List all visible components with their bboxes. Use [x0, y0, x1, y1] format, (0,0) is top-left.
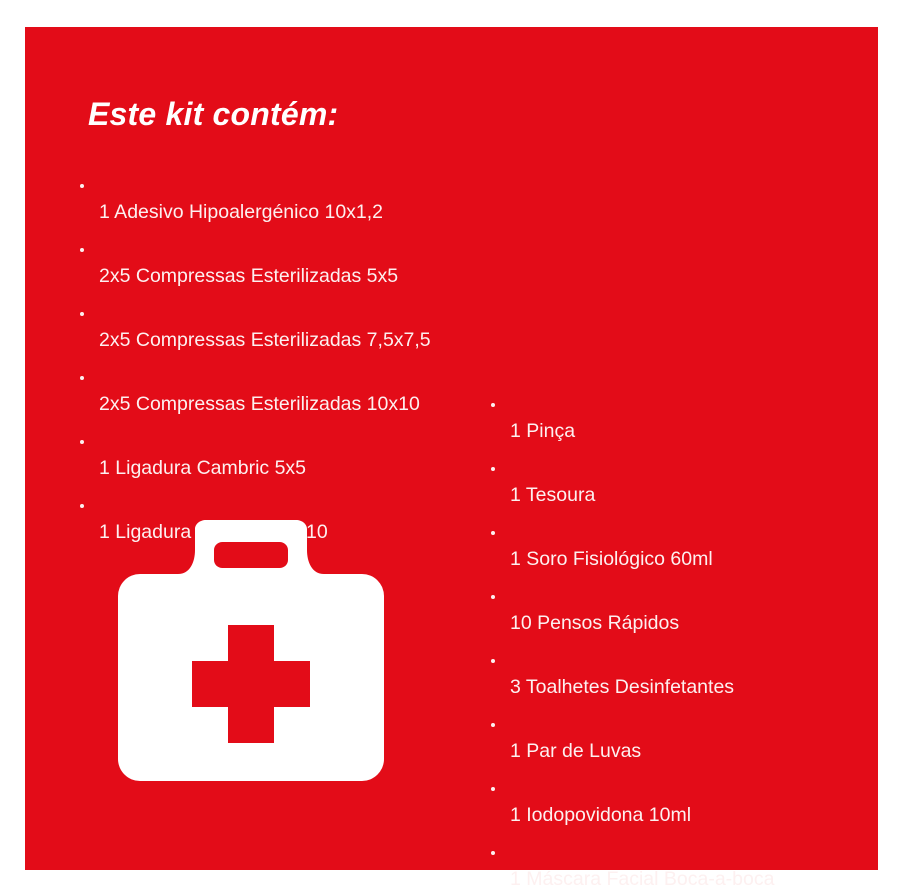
list-item-label: 10 Pensos Rápidos [510, 612, 679, 634]
list-item-label: 2x5 Compressas Esterilizadas 10x10 [99, 393, 420, 415]
list-item: 2x5 Compressas Esterilizadas 10x10 [78, 365, 498, 417]
list-item: 10 Pensos Rápidos [489, 584, 849, 636]
list-item: 1 Tesoura [489, 456, 849, 508]
bullet-icon [491, 467, 495, 471]
list-item-label: 1 Tesoura [510, 484, 595, 506]
list-item: 1 Máscara Facial Boca-a-boca [489, 840, 849, 892]
kit-contents-right-list: 1 Pinça 1 Tesoura 1 Soro Fisiológico 60m… [489, 392, 849, 892]
list-item-label: 1 Máscara Facial Boca-a-boca [510, 868, 774, 890]
bullet-icon [491, 595, 495, 599]
first-aid-kit-icon [110, 520, 392, 790]
bullet-icon [80, 248, 84, 252]
list-item-label: 1 Pinça [510, 420, 575, 442]
list-item-label: 2x5 Compressas Esterilizadas 5x5 [99, 265, 398, 287]
list-item: 1 Ligadura Cambric 5x5 [78, 429, 498, 481]
list-item: 1 Soro Fisiológico 60ml [489, 520, 849, 572]
bullet-icon [80, 440, 84, 444]
list-item-label: 1 Par de Luvas [510, 740, 641, 762]
bullet-icon [491, 403, 495, 407]
page-title: Este kit contém: [88, 96, 338, 133]
list-item-label: 1 Adesivo Hipoalergénico 10x1,2 [99, 201, 383, 223]
list-item-label: 1 Soro Fisiológico 60ml [510, 548, 713, 570]
bullet-icon [80, 312, 84, 316]
bullet-icon [491, 659, 495, 663]
list-item-label: 1 Iodopovidona 10ml [510, 804, 691, 826]
list-item: 1 Adesivo Hipoalergénico 10x1,2 [78, 173, 498, 225]
list-item: 3 Toalhetes Desinfetantes [489, 648, 849, 700]
list-item: 1 Pinça [489, 392, 849, 444]
list-item: 1 Iodopovidona 10ml [489, 776, 849, 828]
bullet-icon [80, 184, 84, 188]
kit-contents-poster: Este kit contém: 1 Adesivo Hipoalergénic… [0, 0, 900, 892]
bullet-icon [491, 787, 495, 791]
list-item-label: 1 Ligadura Cambric 5x5 [99, 457, 306, 479]
list-item-label: 2x5 Compressas Esterilizadas 7,5x7,5 [99, 329, 431, 351]
bullet-icon [491, 723, 495, 727]
list-item: 2x5 Compressas Esterilizadas 5x5 [78, 237, 498, 289]
bullet-icon [491, 531, 495, 535]
bullet-icon [491, 851, 495, 855]
list-item: 1 Par de Luvas [489, 712, 849, 764]
list-item-label: 3 Toalhetes Desinfetantes [510, 676, 734, 698]
bullet-icon [80, 504, 84, 508]
kit-contents-left-list: 1 Adesivo Hipoalergénico 10x1,2 2x5 Comp… [78, 173, 498, 557]
bullet-icon [80, 376, 84, 380]
list-item: 2x5 Compressas Esterilizadas 7,5x7,5 [78, 301, 498, 353]
